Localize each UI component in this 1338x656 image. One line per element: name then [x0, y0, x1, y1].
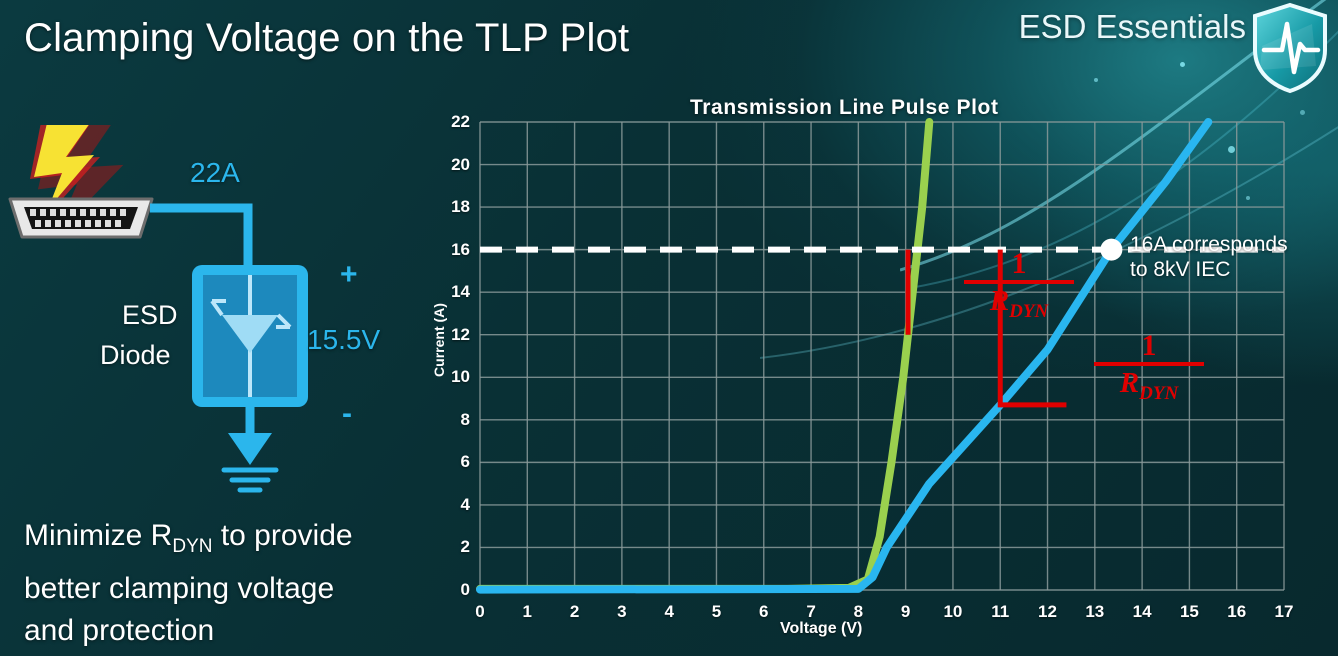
- summary-line1-sub: DYN: [172, 536, 212, 557]
- device-label-line2: Diode: [100, 340, 171, 371]
- marker-note-line2: to 8kV IEC: [1130, 257, 1230, 282]
- slope-denominator-sub: DYN: [1139, 383, 1178, 404]
- slope-denominator: RDYN: [964, 285, 1074, 328]
- summary-text: Minimize RDYN to provide better clamping…: [24, 515, 444, 652]
- slope-denominator-base: R: [990, 285, 1009, 317]
- surge-current-label: 22A: [190, 157, 240, 189]
- background-particle: [1180, 62, 1185, 67]
- slope-numerator: 1: [1094, 332, 1204, 360]
- page-title: Clamping Voltage on the TLP Plot: [24, 16, 629, 61]
- shield-pulse-icon: [1246, 0, 1334, 96]
- ground-icon: [224, 470, 276, 490]
- device-label-line1: ESD: [122, 300, 178, 331]
- fraction-bar: [964, 280, 1074, 284]
- current-arrow-icon: [228, 433, 272, 465]
- summary-line3: and protection: [24, 614, 214, 647]
- slope-annotation-blue: 1 RDYN: [1094, 332, 1204, 410]
- polarity-minus-label: -: [342, 397, 352, 431]
- background-particle: [1094, 78, 1098, 82]
- fraction-bar: [1094, 362, 1204, 366]
- summary-line2: better clamping voltage: [24, 572, 334, 605]
- hdmi-connector-icon: [10, 199, 152, 237]
- clamping-voltage-label: 15.5V: [307, 324, 380, 356]
- esd-circuit-diagram: 22A ESD Diode 15.5V + -: [0, 125, 420, 505]
- marker-note-line1: 16A corresponds: [1130, 232, 1288, 257]
- polarity-plus-label: +: [340, 258, 358, 292]
- slide-canvas: Clamping Voltage on the TLP Plot ESD Ess…: [0, 0, 1338, 656]
- slope-annotation-green: 1 RDYN: [964, 250, 1074, 328]
- summary-line1-a: Minimize R: [24, 519, 172, 552]
- slope-denominator: RDYN: [1094, 367, 1204, 410]
- circuit-wire: [150, 208, 248, 265]
- slope-denominator-base: R: [1120, 367, 1139, 399]
- tlp-chart: Transmission Line Pulse Plot Current (A)…: [412, 92, 1332, 652]
- tvs-diode-icon: [192, 265, 308, 407]
- slope-denominator-sub: DYN: [1009, 301, 1048, 322]
- brand-title: ESD Essentials: [1019, 8, 1246, 46]
- slope-numerator: 1: [964, 250, 1074, 278]
- summary-line1-b: to provide: [212, 519, 352, 552]
